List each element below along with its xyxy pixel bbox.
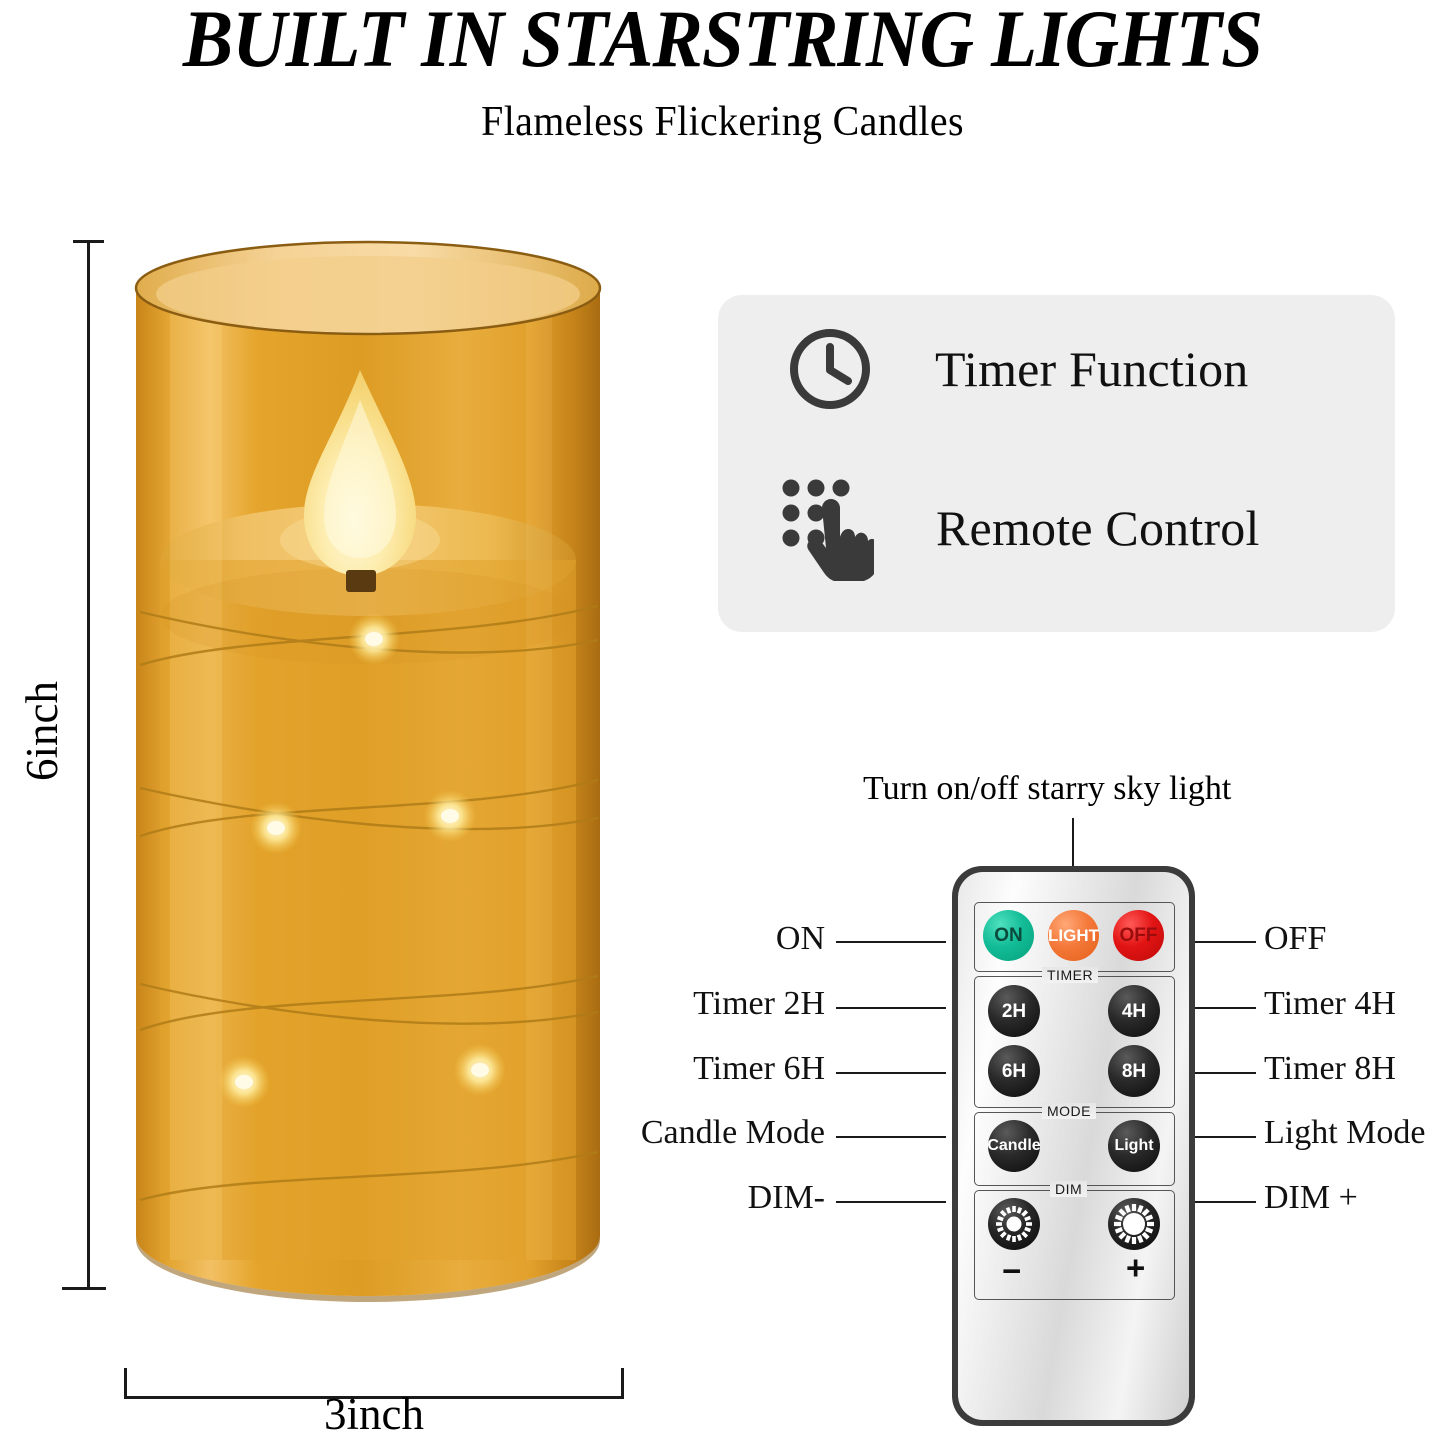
- candle-mode-button[interactable]: Candle: [988, 1120, 1040, 1172]
- light-mode-button[interactable]: Light: [1108, 1120, 1160, 1172]
- timer-2h-button[interactable]: 2H: [988, 985, 1040, 1037]
- timer-section-caption: TIMER: [1042, 967, 1098, 983]
- remote-faceplate: ON LIGHT OFF TIMER 2H 4H 6H 8H MODE Cand…: [958, 872, 1189, 1420]
- timer-8h-button[interactable]: 8H: [1108, 1045, 1160, 1097]
- dim-section-caption: DIM: [1050, 1181, 1087, 1197]
- callout-label-dim-down: DIM-: [640, 1179, 825, 1217]
- leader-line-on: [836, 941, 946, 943]
- sun-small-icon: [988, 1198, 1040, 1250]
- leader-line-timer-6h: [836, 1072, 946, 1074]
- leader-line-timer-2h: [836, 1007, 946, 1009]
- timer-6h-button[interactable]: 6H: [988, 1045, 1040, 1097]
- remote-control-device: ON LIGHT OFF TIMER 2H 4H 6H 8H MODE Cand…: [952, 866, 1195, 1426]
- callout-label-light-mode: Light Mode: [1264, 1114, 1425, 1152]
- dim-minus-sign: −: [1002, 1254, 1021, 1287]
- on-button[interactable]: ON: [983, 910, 1034, 961]
- dim-up-button[interactable]: [1108, 1198, 1160, 1250]
- mode-section-caption: MODE: [1042, 1103, 1096, 1119]
- callout-label-timer-8h: Timer 8H: [1264, 1050, 1396, 1088]
- leader-line-dim-down: [836, 1201, 946, 1203]
- remote-diagram: Turn on/off starry sky light ON Timer 2H…: [0, 0, 1445, 1437]
- callout-label-dim-up: DIM +: [1264, 1179, 1358, 1217]
- sun-large-icon: [1108, 1198, 1160, 1250]
- callout-label-timer-2h: Timer 2H: [600, 985, 825, 1023]
- callout-label-timer-4h: Timer 4H: [1264, 985, 1396, 1023]
- remote-diagram-title: Turn on/off starry sky light: [863, 770, 1231, 808]
- dim-plus-sign: +: [1126, 1251, 1145, 1284]
- light-button[interactable]: LIGHT: [1048, 910, 1099, 961]
- callout-label-on: ON: [670, 920, 825, 958]
- callout-label-candle-mode: Candle Mode: [540, 1114, 825, 1152]
- callout-label-off: OFF: [1264, 920, 1326, 958]
- off-button[interactable]: OFF: [1113, 910, 1164, 961]
- dim-down-button[interactable]: [988, 1198, 1040, 1250]
- leader-line-candle-mode: [836, 1136, 946, 1138]
- callout-label-timer-6h: Timer 6H: [600, 1050, 825, 1088]
- timer-4h-button[interactable]: 4H: [1108, 985, 1160, 1037]
